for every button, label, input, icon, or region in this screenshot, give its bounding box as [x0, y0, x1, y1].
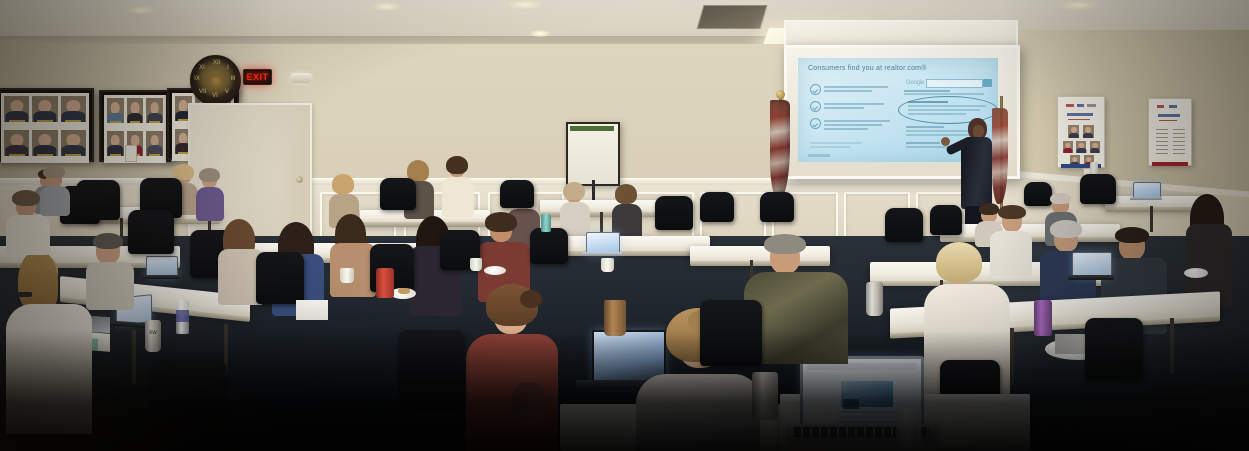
laptop-base[interactable]	[582, 252, 622, 256]
presenter-suit	[961, 137, 992, 209]
chair[interactable]	[530, 228, 568, 264]
chair[interactable]	[128, 210, 174, 254]
check-icon	[810, 118, 821, 129]
slide-bullet-text	[824, 103, 884, 105]
search-input-graphic	[926, 79, 983, 88]
flag-finial	[776, 90, 785, 99]
table-mid-right	[560, 236, 710, 252]
chair[interactable]	[256, 252, 304, 304]
search-result-line	[904, 93, 984, 95]
foreground-shadow	[0, 330, 1249, 451]
search-result-line	[908, 101, 948, 103]
chair[interactable]	[1024, 182, 1052, 206]
plate-with-pastry	[1184, 268, 1208, 278]
slide-bullet-text	[824, 86, 888, 88]
chair[interactable]	[76, 180, 120, 220]
recessed-light	[372, 2, 402, 11]
search-result-line	[906, 142, 940, 144]
poster-2017-board	[1057, 96, 1105, 168]
chair[interactable]	[930, 205, 962, 235]
wall-sconce-light	[290, 73, 312, 83]
slide-bullet-text	[824, 120, 890, 122]
chair[interactable]	[1080, 174, 1116, 204]
wall-clock: XII I III V VI VII IX XI	[190, 55, 241, 106]
check-icon	[810, 84, 821, 95]
recessed-light	[530, 30, 550, 37]
search-result-line	[908, 109, 980, 111]
slide-title: Consumers find you at realtor.com®	[808, 65, 927, 72]
check-icon	[810, 101, 821, 112]
portrait-gallery-1	[0, 88, 94, 162]
laptop-base[interactable]	[142, 275, 180, 279]
table-leg	[1150, 206, 1153, 232]
exit-sign-label: EXIT	[246, 72, 268, 82]
search-result-line	[908, 105, 986, 107]
presenter-hand	[941, 137, 950, 146]
napkin-stack	[296, 300, 328, 320]
tumbler	[541, 214, 551, 232]
laptop-base[interactable]	[1130, 197, 1162, 200]
hair-bun	[520, 290, 542, 308]
slide-bullet-text	[824, 90, 872, 92]
recessed-light	[1060, 0, 1098, 10]
chair[interactable]	[655, 196, 693, 230]
tumbler	[866, 282, 883, 316]
table-center	[690, 246, 830, 262]
slide-bullet-text	[824, 107, 864, 109]
chair[interactable]	[380, 178, 416, 210]
ceiling-air-vent	[697, 5, 768, 29]
search-icon	[983, 79, 992, 87]
chair[interactable]	[500, 180, 534, 208]
door-knob[interactable]	[296, 176, 303, 183]
coffee-cup	[340, 268, 354, 283]
eyeglasses	[18, 292, 32, 297]
state-flag	[992, 108, 1008, 204]
recessed-light	[508, 0, 542, 9]
slide-footer-logo	[808, 154, 830, 157]
poster-2018-board	[1148, 98, 1192, 166]
pastry	[398, 288, 410, 294]
slide-bullet-text	[824, 128, 868, 130]
plate-with-pastry	[484, 266, 506, 275]
slide-note	[810, 142, 862, 144]
google-logo: Google	[906, 80, 924, 86]
flip-chart-easel	[566, 122, 620, 186]
bottle-label	[176, 310, 189, 322]
exit-sign: EXIT	[243, 69, 272, 85]
search-result-line	[904, 90, 950, 92]
search-result-line	[906, 126, 944, 128]
search-result-line	[908, 113, 966, 115]
coffee-cup	[601, 258, 614, 272]
slide-note	[810, 146, 850, 148]
chair[interactable]	[760, 192, 794, 222]
coffee-cup	[470, 258, 482, 271]
recessed-light	[128, 6, 154, 14]
laptop-base[interactable]	[1068, 275, 1114, 280]
slide-bullet-text	[824, 124, 882, 126]
seminar-room-photo: XII I III V VI VII IX XI EXIT Consumers …	[0, 0, 1249, 451]
thermostat[interactable]	[125, 145, 137, 162]
chair[interactable]	[700, 192, 734, 222]
red-tumbler	[376, 268, 394, 298]
chair[interactable]	[885, 208, 923, 242]
